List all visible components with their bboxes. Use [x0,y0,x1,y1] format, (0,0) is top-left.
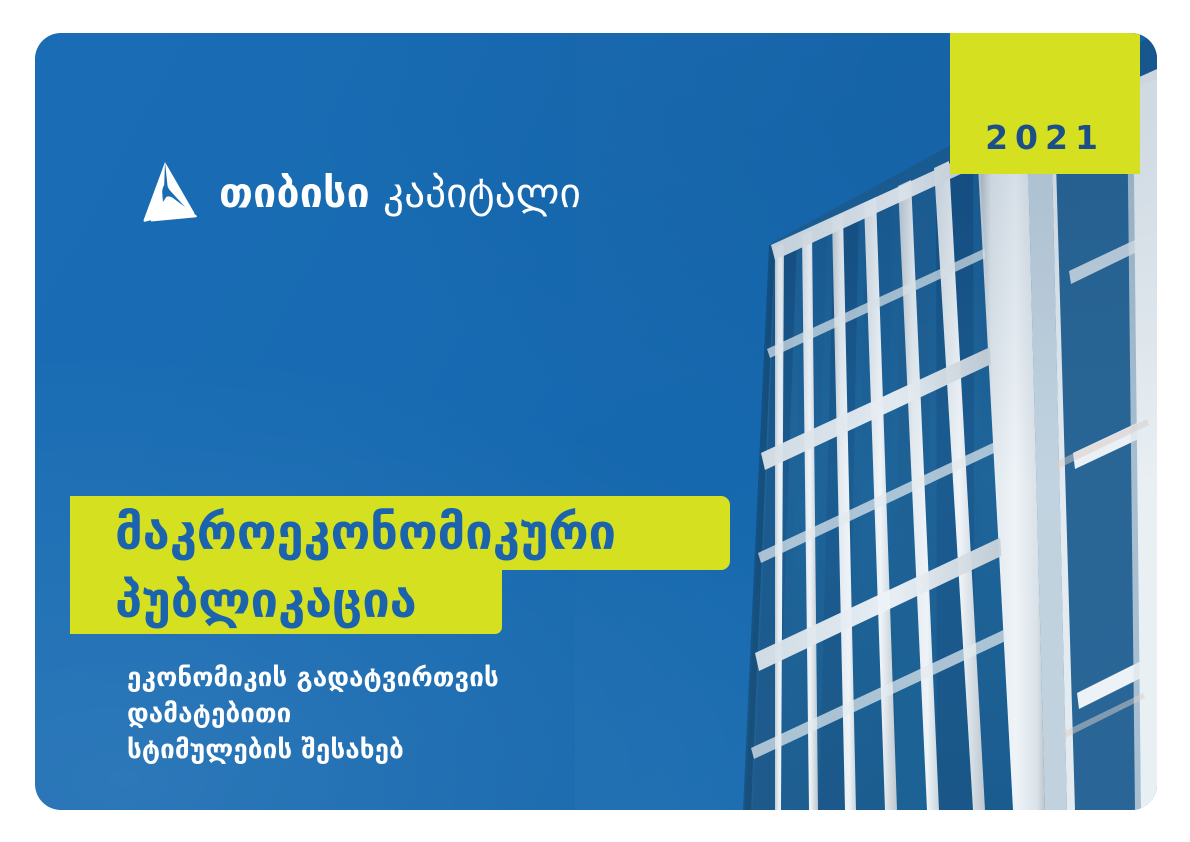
subtitle-line-2: დამატებითი [127,696,747,732]
cover-subtitle: ეკონომიკის გადატვირთვის დამატებითი სტიმუ… [127,660,747,768]
headline-line-1: მაკროეკონომიკური [115,499,755,567]
year-badge: 2021 [950,33,1140,174]
cover-headline: მაკროეკონომიკური პუბლიკაცია [115,499,755,635]
cover-card: თიბისი კაპიტალი 2021 მაკროეკონომიკური პუ… [35,33,1157,810]
headline-line-2: პუბლიკაცია [115,567,755,635]
brand-wordmark-bold: თიბისი [219,169,370,217]
brand-wordmark: თიბისი კაპიტალი [219,173,581,214]
year-badge-value: 2021 [985,121,1105,154]
subtitle-line-1: ეკონომიკის გადატვირთვის [127,660,747,696]
headline-block: მაკროეკონომიკური პუბლიკაცია [70,496,770,636]
brand-wordmark-light: კაპიტალი [383,169,581,217]
cover-page: თიბისი კაპიტალი 2021 მაკროეკონომიკური პუ… [0,0,1190,842]
brand-logo-lockup: თიბისი კაპიტალი [132,161,581,225]
tbc-capital-triangle-mark-icon [132,161,198,225]
subtitle-line-3: სტიმულების შესახებ [127,732,747,768]
